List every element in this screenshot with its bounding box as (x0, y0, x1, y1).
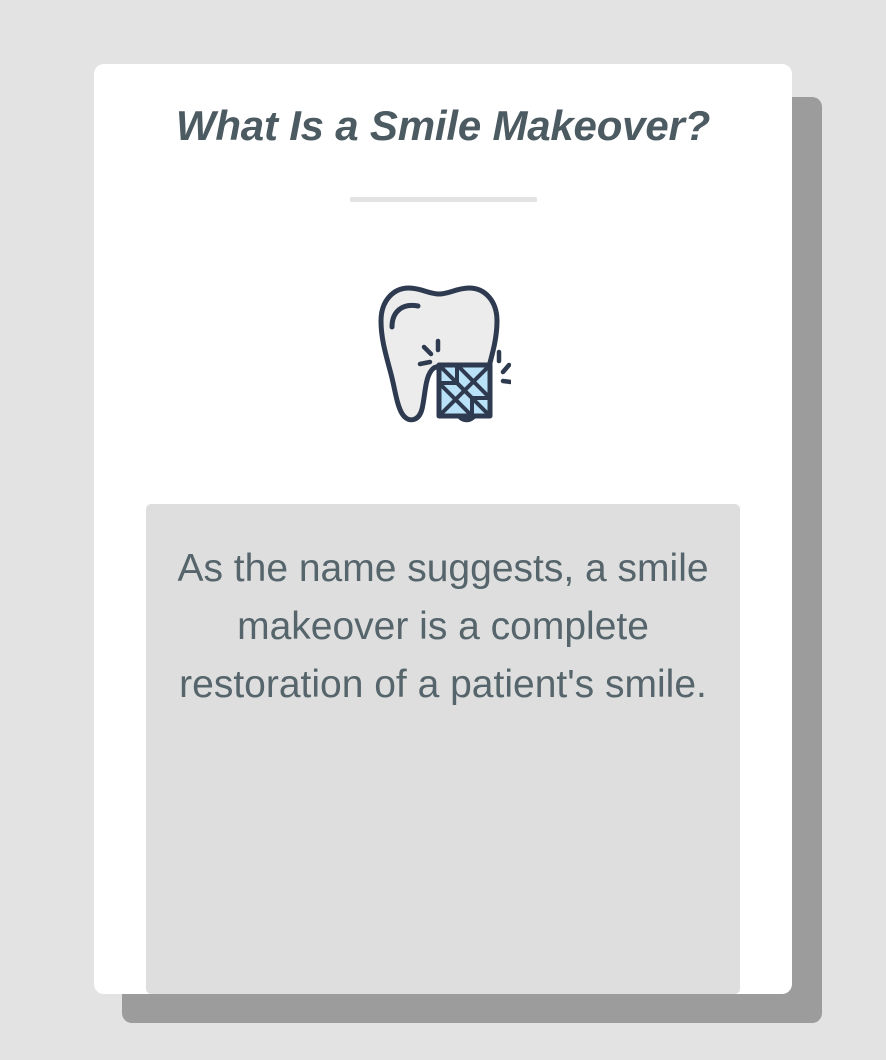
diamond-gem (439, 365, 490, 416)
content-card: What Is a Smile Makeover? (94, 64, 792, 994)
tooth-with-diamond-illustration (375, 279, 511, 427)
body-text: As the name suggests, a smile makeover i… (170, 540, 716, 714)
page-title: What Is a Smile Makeover? (94, 100, 792, 152)
title-divider (350, 197, 537, 202)
sparkle-right (499, 352, 511, 382)
tooth-with-diamond-icon (375, 279, 511, 427)
slide-stage: What Is a Smile Makeover? (0, 0, 886, 1060)
body-text-panel: As the name suggests, a smile makeover i… (146, 504, 740, 994)
